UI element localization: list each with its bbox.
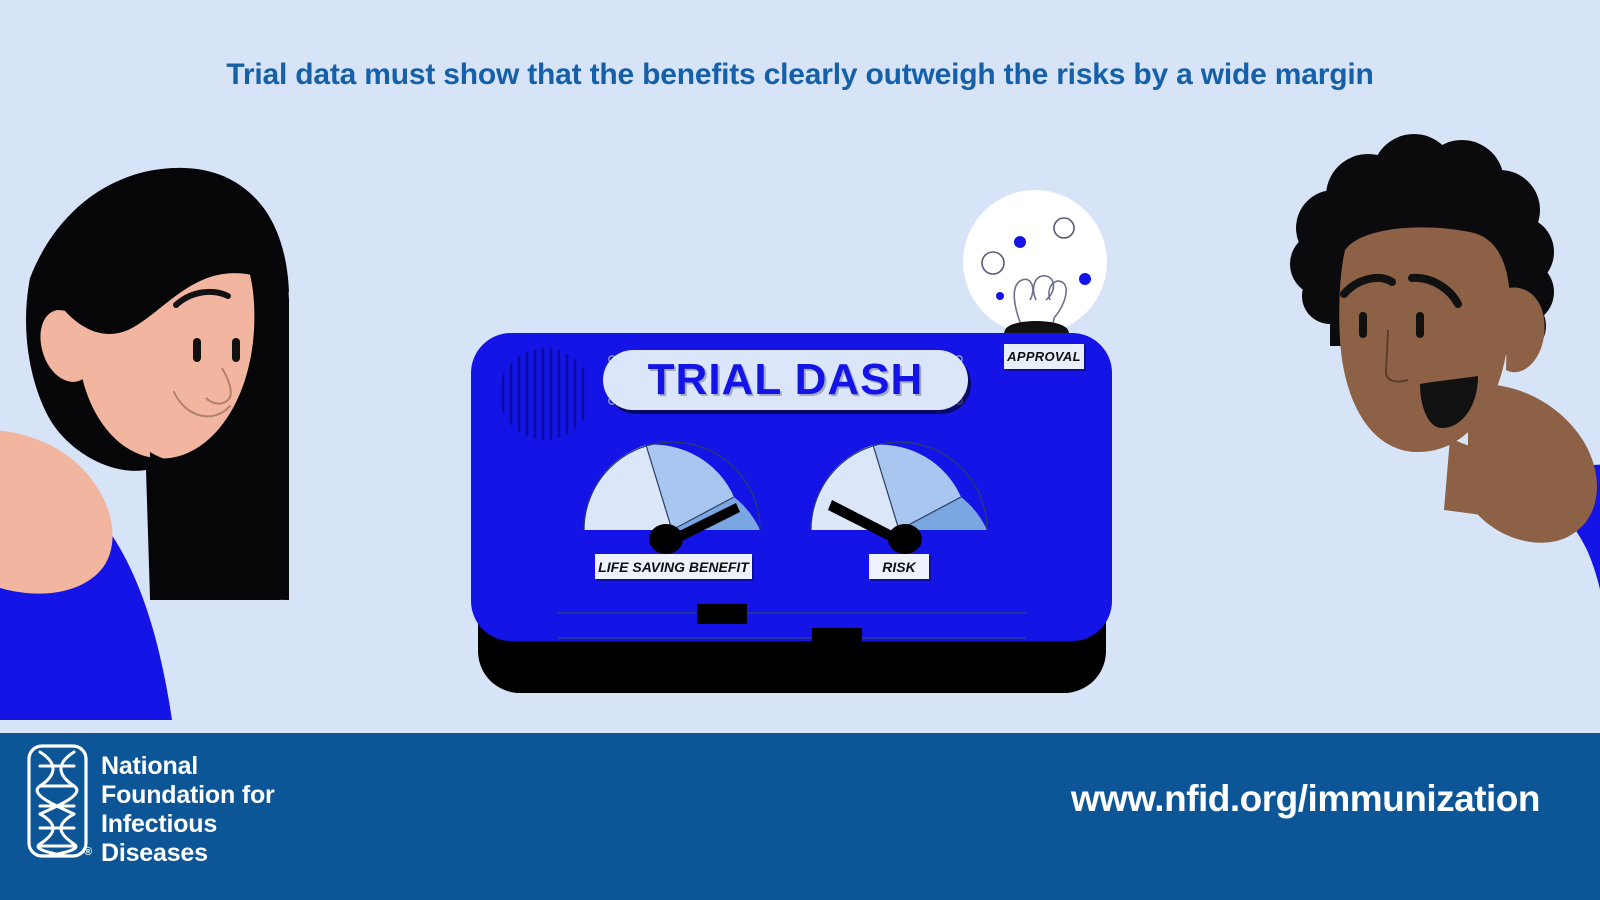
nfid-dna-logo (29, 746, 86, 856)
illustration-stage: Trial data must show that the benefits c… (0, 0, 1600, 900)
registered-trademark: ® (84, 846, 92, 858)
organization-name: National Foundation for Infectious Disea… (101, 752, 275, 868)
logo-frame (29, 746, 86, 856)
footer-url[interactable]: www.nfid.org/immunization (1071, 778, 1540, 820)
logo-dna-helix (37, 752, 77, 856)
